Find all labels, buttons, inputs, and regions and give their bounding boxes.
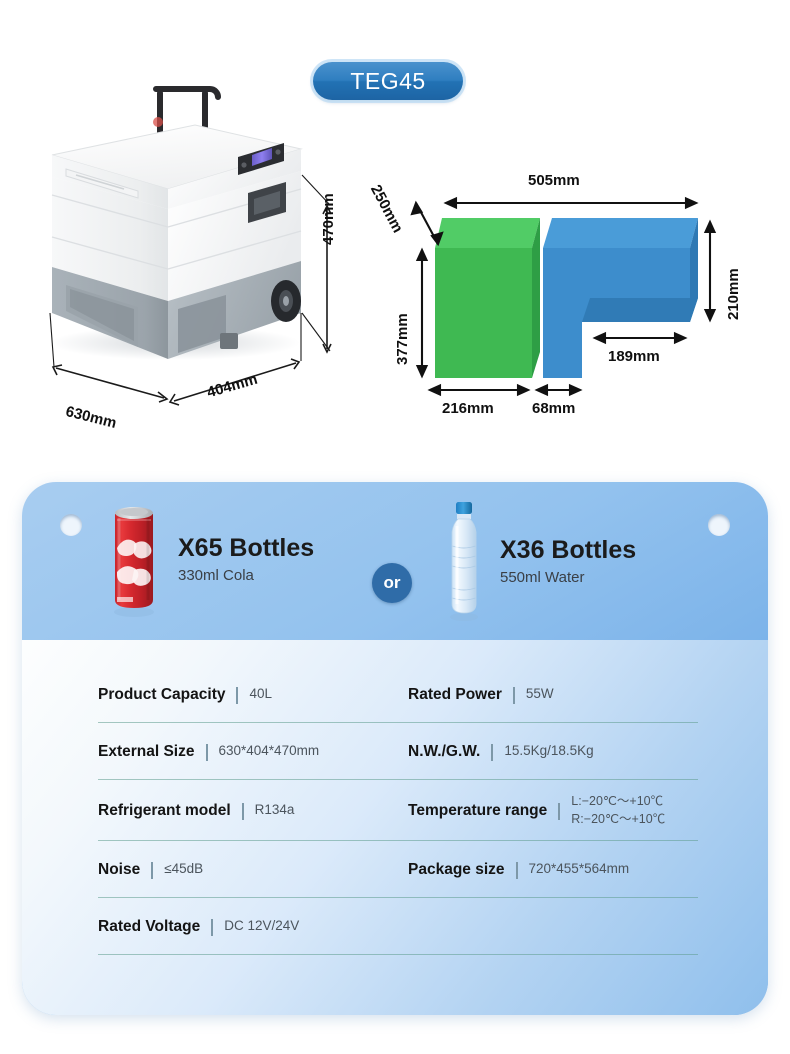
spec-divider [151, 862, 153, 879]
spec-row-1: Product Capacity 40L Rated Power 55W [98, 666, 698, 723]
spec-label: Refrigerant model [98, 802, 231, 820]
product-spec-sheet: TEG45 [0, 0, 790, 1054]
spec-row-2: External Size 630*404*470mm N.W./G.W. 15… [98, 723, 698, 780]
diagram-left-height-label: 377mm [394, 313, 411, 365]
arrow-gap-width [537, 386, 580, 395]
spec-value: 630*404*470mm [219, 742, 320, 761]
handle-crossbar [156, 89, 218, 97]
diagram-left-width-label: 216mm [442, 400, 494, 417]
spec-label: External Size [98, 743, 195, 761]
product-photo-illustration [20, 85, 370, 430]
spec-cell-rated-voltage: Rated Voltage DC 12V/24V [98, 898, 299, 955]
spec-value: 15.5Kg/18.5Kg [504, 742, 593, 761]
diagram-right-height-label: 210mm [725, 268, 742, 320]
water-bottle-icon [442, 500, 486, 622]
spec-cell-temperature-range: Temperature range L:−20℃〜+10℃ R:−20℃〜+10… [408, 780, 665, 841]
or-separator-badge: or [372, 563, 412, 603]
diagram-overall-width-label: 505mm [528, 172, 580, 189]
green-block [435, 218, 540, 378]
spec-value: R134a [255, 801, 295, 820]
arrow-overall-width [446, 199, 696, 208]
panel-button-left [241, 162, 246, 167]
spec-value-line-1: L:−20℃〜+10℃ [571, 793, 665, 810]
spec-row-3: Refrigerant model R134a Temperature rang… [98, 780, 698, 841]
dimension-diagram-svg [380, 160, 770, 435]
arrow-right-height [706, 222, 715, 320]
spec-divider [236, 687, 238, 704]
or-label: or [384, 573, 401, 593]
spec-label: Rated Voltage [98, 918, 200, 936]
arrow-depth [412, 203, 442, 244]
diagram-right-width-label: 189mm [608, 348, 660, 365]
spec-table-panel: Product Capacity 40L Rated Power 55W Ext… [22, 640, 768, 1015]
spec-divider [206, 744, 208, 761]
wheel [271, 280, 301, 322]
spec-divider [211, 919, 213, 936]
spec-value: 40L [249, 685, 272, 704]
green-block-top [435, 218, 540, 248]
spec-row-5: Rated Voltage DC 12V/24V [98, 898, 698, 955]
spec-divider [516, 862, 518, 879]
cola-bottle-detail: 330ml Cola [178, 567, 314, 584]
spec-label: N.W./G.W. [408, 743, 480, 761]
spec-value: 55W [526, 685, 554, 704]
arrow-left-height [418, 250, 427, 376]
spec-divider [491, 744, 493, 761]
spec-value: DC 12V/24V [224, 917, 299, 936]
spec-label: Package size [408, 861, 505, 879]
spec-divider [242, 803, 244, 820]
spec-table: Product Capacity 40L Rated Power 55W Ext… [98, 666, 698, 955]
arrow-left-width [430, 386, 528, 395]
spec-label: Noise [98, 861, 140, 879]
cola-can-icon [104, 500, 164, 618]
panel-button-right [275, 149, 280, 154]
spec-label: Temperature range [408, 802, 547, 820]
blue-block-top [543, 218, 698, 248]
spec-row-rule [98, 954, 698, 955]
dimension-diagram: 505mm 250mm 377mm 210mm 216mm 68mm 189mm [380, 160, 770, 435]
spec-cell-net-gross-weight: N.W./G.W. 15.5Kg/18.5Kg [408, 723, 594, 780]
lid-logo [153, 117, 163, 127]
spec-cell-noise: Noise ≤45dB [98, 841, 203, 898]
water-capacity-group: X36 Bottles 550ml Water [442, 500, 636, 622]
cola-capacity-group: X65 Bottles 330ml Cola [104, 500, 314, 618]
spec-value: 720*455*564mm [529, 860, 630, 879]
spec-value-line-2: R:−20℃〜+10℃ [571, 811, 665, 828]
cola-bottle-count: X65 Bottles [178, 534, 314, 563]
photo-height-label: 470mm [320, 193, 337, 245]
green-block-front [435, 248, 532, 378]
spec-cell-external-size: External Size 630*404*470mm [98, 723, 319, 780]
spec-label: Rated Power [408, 686, 502, 704]
capacity-and-specs-card: X65 Bottles 330ml Cola [22, 482, 768, 1015]
spec-cell-rated-power: Rated Power 55W [408, 666, 554, 723]
diagram-gap-width-label: 68mm [532, 400, 575, 417]
spec-divider [558, 803, 560, 820]
spec-divider [513, 687, 515, 704]
spec-label: Product Capacity [98, 686, 225, 704]
capacity-band: X65 Bottles 330ml Cola [22, 482, 768, 640]
water-bottle-count: X36 Bottles [500, 536, 636, 565]
arrow-right-width [595, 334, 685, 343]
spec-row-4: Noise ≤45dB Package size 720*455*564mm [98, 841, 698, 898]
product-photo: 470mm 630mm 404mm [20, 85, 370, 430]
water-bottle-detail: 550ml Water [500, 569, 636, 586]
spec-cell-package-size: Package size 720*455*564mm [408, 841, 629, 898]
blue-block-step-face [582, 298, 698, 322]
spec-value-group: L:−20℃〜+10℃ R:−20℃〜+10℃ [571, 793, 665, 828]
spec-cell-product-capacity: Product Capacity 40L [98, 666, 272, 723]
spec-value: ≤45dB [164, 860, 203, 879]
spec-cell-refrigerant-model: Refrigerant model R134a [98, 780, 294, 841]
wheel-bracket [220, 333, 238, 349]
